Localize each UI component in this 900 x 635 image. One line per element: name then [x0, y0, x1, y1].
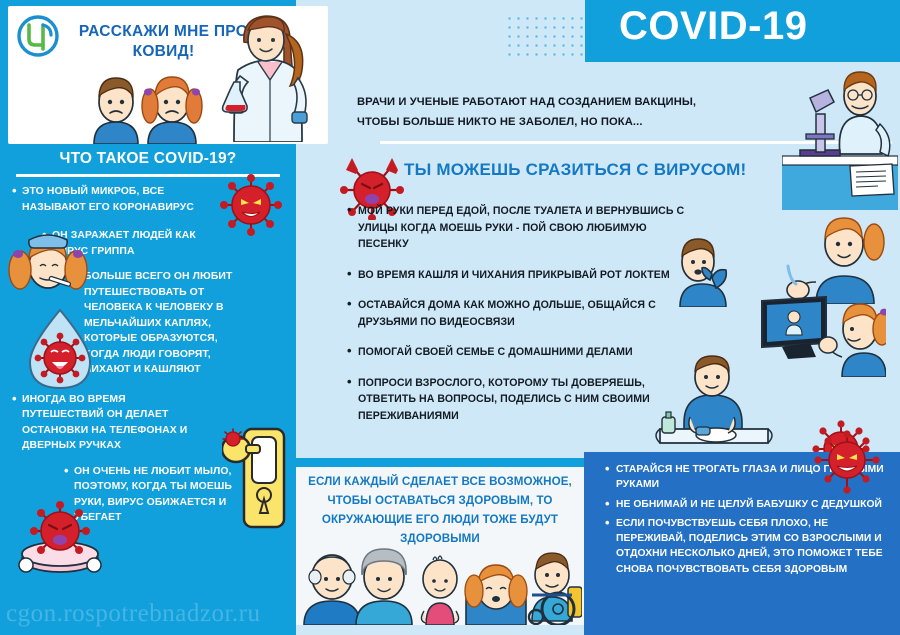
door-handle-illustration	[222, 425, 294, 531]
bottom-center-top-bar	[296, 458, 584, 467]
left-section-title: ЧТО ТАКОЕ COVID-19?	[0, 150, 296, 168]
list-item: ПОПРОСИ ВЗРОСЛОГО, КОТОРОМУ ТЫ ДОВЕРЯЕШЬ…	[358, 375, 688, 425]
banner-title: COVID-19	[619, 4, 808, 49]
angry-coronavirus-icon	[218, 172, 284, 238]
list-item: БОЛЬШЕ ВСЕГО ОН ЛЮБИТ ПУТЕШЕСТВОВАТЬ ОТ …	[84, 269, 244, 378]
girl-washing-hands-illustration	[786, 196, 896, 304]
female-doctor-illustration	[214, 8, 326, 142]
covid-banner: COVID-19	[585, 0, 900, 62]
list-item: ВО ВРЕМЯ КАШЛЯ И ЧИХАНИЯ ПРИКРЫВАЙ РОТ Л…	[358, 267, 688, 284]
cgon-logo-icon	[17, 15, 59, 57]
center-section-title: ТЫ МОЖЕШЬ СРАЗИТЬСЯ С ВИРУСОМ!	[404, 160, 746, 180]
bottom-center-footer-bar	[296, 625, 584, 635]
list-item: НЕ ОБНИМАЙ И НЕ ЦЕЛУЙ БАБУШКУ С ДЕДУШКОЙ	[616, 497, 896, 512]
header-card: РАССКАЖИ МНЕ ПРО КОВИД!	[8, 6, 328, 144]
two-children-illustration	[86, 64, 206, 144]
list-item: МОЙ РУКИ ПЕРЕД ЕДОЙ, ПОСЛЕ ТУАЛЕТА И ВЕР…	[358, 203, 688, 253]
list-item: ПОМОГАЙ СВОЕЙ СЕМЬЕ С ДОМАШНИМИ ДЕЛАМИ	[358, 344, 688, 361]
boy-washing-dishes-illustration	[650, 355, 778, 449]
video-call-illustration	[760, 295, 886, 377]
grinning-coronavirus-icon	[812, 430, 882, 496]
intro-text: ВРАЧИ И УЧЕНЫЕ РАБОТАЮТ НАД СОЗДАНИЕМ ВА…	[357, 92, 787, 132]
boy-coughing-elbow-illustration	[672, 232, 734, 307]
list-item: ИНОГДА ВО ВРЕМЯ ПУТЕШЕСТВИЙ ОН ДЕЛАЕТ ОС…	[22, 392, 192, 454]
poster-root: РАССКАЖИ МНЕ ПРО КОВИД!	[0, 0, 900, 635]
watermark: cgon.rospotrebnadzor.ru	[6, 600, 260, 628]
list-item: ЭТО НОВЫЙ МИКРОБ, ВСЕ НАЗЫВАЮТ ЕГО КОРОН…	[22, 184, 202, 215]
scientist-microscope-illustration	[782, 58, 898, 210]
list-item: ЕСЛИ ПОЧУВСТВУЕШЬ СЕБЯ ПЛОХО, НЕ ПЕРЕЖИВ…	[616, 516, 896, 577]
virus-in-droplet-illustration	[18, 306, 102, 394]
intro-line-1: ВРАЧИ И УЧЕНЫЕ РАБОТАЮТ НАД СОЗДАНИЕМ ВА…	[357, 92, 787, 112]
center-bullet-list: МОЙ РУКИ ПЕРЕД ЕДОЙ, ПОСЛЕ ТУАЛЕТА И ВЕР…	[340, 203, 680, 424]
virus-on-soap-illustration	[10, 495, 110, 577]
intro-line-2: ЧТОБЫ БОЛЬШЕ НИКТО НЕ ЗАБОЛЕЛ, НО ПОКА..…	[357, 112, 787, 132]
group-of-people-illustration	[300, 533, 582, 625]
sick-girl-illustration	[2, 228, 94, 298]
list-item: ОСТАВАЙСЯ ДОМА КАК МОЖНО ДОЛЬШЕ, ОБЩАЙСЯ…	[358, 297, 688, 330]
